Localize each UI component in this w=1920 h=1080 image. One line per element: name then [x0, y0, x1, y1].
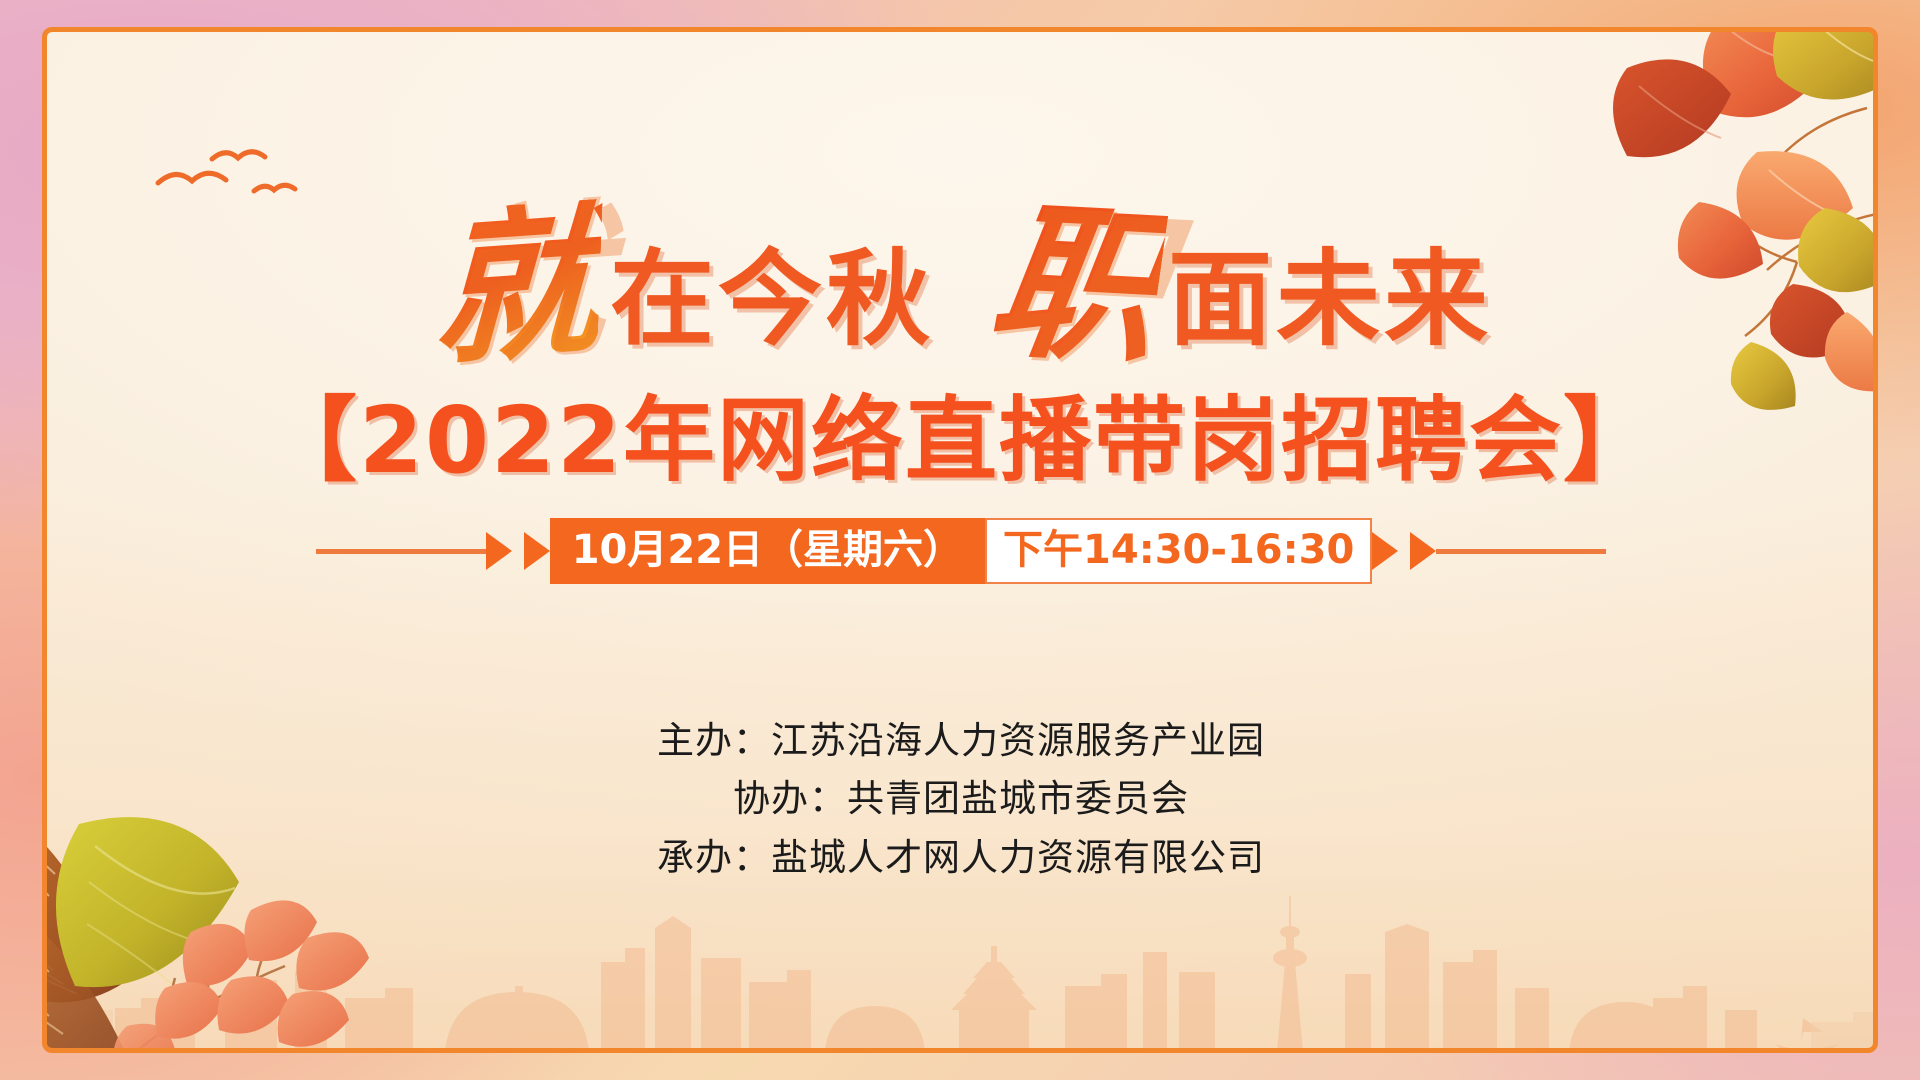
headline-brush-char-2: 职: [977, 201, 1169, 369]
event-time: 下午14:30-16:30: [985, 518, 1372, 584]
headline-word-1: 在今秋: [610, 247, 934, 351]
arrow-head-icon: [1410, 532, 1436, 570]
arrow-head-icon: [1372, 532, 1398, 570]
organizer-coorganizer: 协办：共青团盐城市委员会: [45, 770, 1877, 828]
organizer-list: 主办：江苏沿海人力资源服务产业园 协办：共青团盐城市委员会 承办：盐城人才网人力…: [45, 712, 1877, 887]
headline: 就 在今秋 职 面未来: [45, 180, 1877, 365]
arrow-head-icon: [524, 532, 550, 570]
poster-canvas: 就 在今秋 职 面未来 【2022年网络直播带岗招聘会】 10月22日（星期六）…: [45, 30, 1877, 1052]
organizer-host: 主办：江苏沿海人力资源服务产业园: [45, 712, 1877, 770]
organizer-undertaker: 承办：盐城人才网人力资源有限公司: [45, 829, 1877, 887]
schedule-banner: 10月22日（星期六） 下午14:30-16:30: [45, 518, 1877, 584]
event-date: 10月22日（星期六）: [550, 518, 985, 584]
headline-word-2: 面未来: [1168, 247, 1492, 351]
left-arrow-decoration: [316, 532, 550, 570]
arrow-bar: [316, 549, 486, 554]
arrow-bar: [1436, 549, 1606, 554]
page-title: 【2022年网络直播带岗招聘会】: [45, 366, 1877, 499]
headline-brush-char-1: 就: [427, 199, 602, 371]
right-arrow-decoration: [1372, 532, 1606, 570]
arrow-head-icon: [486, 532, 512, 570]
poster-content: 就 在今秋 职 面未来 【2022年网络直播带岗招聘会】 10月22日（星期六）…: [45, 30, 1877, 1052]
